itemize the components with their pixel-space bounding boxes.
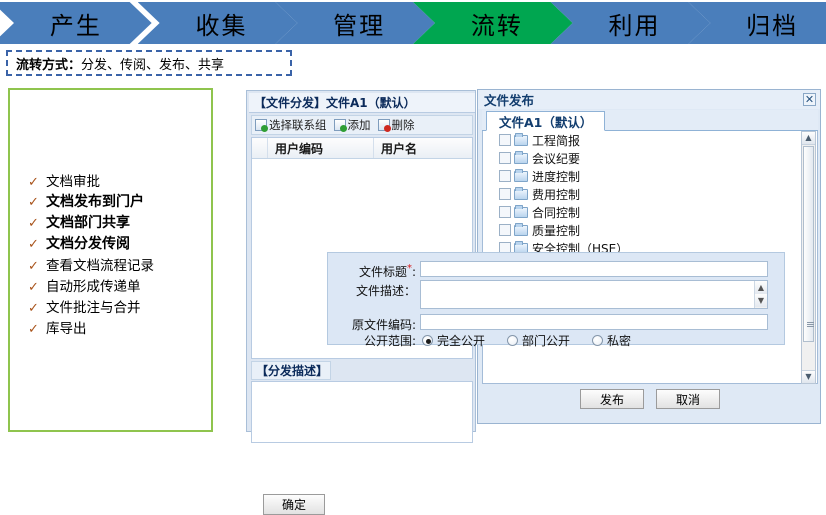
scope-radio-3[interactable]: 私密 (592, 332, 631, 349)
publish-button[interactable]: 发布 (580, 389, 644, 409)
feature-item-label: 自动形成传递单 (46, 275, 141, 295)
checkbox[interactable] (499, 224, 511, 236)
publish-title: 文件发布 (478, 90, 820, 109)
feature-item-4: ✓文档分发传阅 (24, 233, 209, 254)
scope-radio-2[interactable]: 部门公开 (507, 332, 570, 349)
scope-radio-1[interactable]: 完全公开 (422, 332, 485, 349)
check-icon: ✓ (24, 175, 46, 190)
grid-header-row: 用户编码 用户名 (252, 138, 472, 159)
file-title-label: 文件标题*: (338, 261, 416, 280)
radio-icon[interactable] (422, 335, 433, 346)
process-step-label: 收集 (195, 6, 247, 41)
file-title-label-text: 文件标题 (359, 265, 407, 279)
process-banner: 产生收集管理流转利用归档 (0, 2, 826, 44)
feature-list: ✓文档审批✓文档发布到门户✓文档部门共享✓文档分发传阅✓查看文档流程记录✓自动形… (24, 170, 209, 338)
feature-item-label: 文档分发传阅 (46, 233, 130, 253)
toolbar-button-label: 选择联系组 (269, 117, 327, 133)
process-step-label: 利用 (608, 6, 660, 41)
feature-item-label: 查看文档流程记录 (46, 254, 154, 274)
feature-item-label: 文档审批 (46, 170, 100, 190)
checkbox[interactable] (499, 188, 511, 200)
feature-item-label: 文档发布到门户 (46, 191, 144, 211)
sheet-add-icon (334, 119, 346, 131)
process-step-3: 管理 (275, 2, 435, 44)
folder-icon (514, 135, 528, 146)
check-icon: ✓ (24, 322, 46, 337)
distribution-confirm-button[interactable]: 确定 (263, 494, 325, 515)
tree-node-label: 进度控制 (532, 168, 580, 185)
tree-node-2[interactable]: 会议纪要 (483, 149, 817, 167)
radio-icon[interactable] (507, 335, 518, 346)
process-step-2: 收集 (138, 2, 298, 44)
sheet-add-icon (255, 119, 267, 131)
note-text: 分发、传阅、发布、共享 (81, 54, 224, 73)
distribution-title: 【文件分发】文件A1（默认） (249, 93, 475, 113)
feature-item-label: 库导出 (46, 317, 87, 337)
feature-item-8: ✓库导出 (24, 317, 209, 338)
check-icon: ✓ (24, 301, 46, 316)
checkbox[interactable] (499, 206, 511, 218)
feature-item-label: 文件批注与合并 (46, 296, 141, 316)
process-step-4: 流转 (413, 2, 573, 44)
process-step-5: 利用 (551, 2, 711, 44)
toolbar-button-1[interactable]: 选择联系组 (255, 117, 327, 133)
scope-radio-label: 私密 (607, 332, 631, 349)
tree-node-3[interactable]: 进度控制 (483, 167, 817, 185)
scope-row: 公开范围: 完全公开部门公开私密 (338, 332, 631, 349)
publish-form-dialog: 文件标题*: 文件描述： ▲ ▼ 原文件编码: 公开范围: 完全公开部门公开私密 (327, 252, 785, 345)
toolbar-button-label: 添加 (348, 117, 371, 133)
checkbox[interactable] (499, 152, 511, 164)
scrollbar-thumb[interactable] (803, 146, 814, 342)
folder-icon (514, 171, 528, 182)
toolbar-button-2[interactable]: 添加 (334, 117, 371, 133)
scope-radio-label: 完全公开 (437, 332, 485, 349)
tree-node-label: 费用控制 (532, 186, 580, 203)
feature-item-label: 文档部门共享 (46, 212, 130, 232)
tree-node-label: 工程简报 (532, 132, 580, 149)
file-desc-textarea[interactable] (420, 280, 768, 309)
tree-node-label: 质量控制 (532, 222, 580, 239)
folder-icon (514, 225, 528, 236)
feature-box: ✓文档审批✓文档发布到门户✓文档部门共享✓文档分发传阅✓查看文档流程记录✓自动形… (8, 88, 213, 432)
checkbox[interactable] (499, 170, 511, 182)
file-desc-row: 文件描述： ▲ ▼ (338, 280, 768, 309)
folder-icon (514, 153, 528, 164)
tree-node-label: 会议纪要 (532, 150, 580, 167)
original-code-label: 原文件编码: (338, 314, 416, 333)
scroll-up-icon[interactable]: ▲ (802, 132, 815, 145)
feature-item-3: ✓文档部门共享 (24, 212, 209, 233)
original-code-row: 原文件编码: (338, 314, 768, 333)
distribution-desc-input[interactable] (251, 381, 473, 443)
tree-node-1[interactable]: 工程简报 (483, 131, 817, 149)
close-icon[interactable]: ✕ (803, 93, 816, 106)
file-desc-label: 文件描述： (338, 280, 416, 299)
feature-item-2: ✓文档发布到门户 (24, 191, 209, 212)
tree-node-5[interactable]: 合同控制 (483, 203, 817, 221)
check-icon: ✓ (24, 216, 46, 231)
distribution-toolbar: 选择联系组添加删除 (251, 115, 473, 135)
process-step-label: 流转 (471, 6, 523, 41)
sheet-delete-icon (378, 119, 390, 131)
cancel-button[interactable]: 取消 (656, 389, 720, 409)
tree-node-6[interactable]: 质量控制 (483, 221, 817, 239)
tree-node-4[interactable]: 费用控制 (483, 185, 817, 203)
tab-file-a1[interactable]: 文件A1（默认） (486, 111, 605, 131)
file-title-input[interactable] (420, 261, 768, 277)
check-icon: ✓ (24, 280, 46, 295)
scope-label: 公开范围: (338, 332, 416, 349)
checkbox[interactable] (499, 134, 511, 146)
scrollbar-grip (807, 322, 814, 327)
desc-scroll-up-icon[interactable]: ▲ (755, 281, 767, 294)
publish-tabbar: 文件A1（默认） (482, 110, 818, 131)
distribution-desc-label: 【分发描述】 (251, 361, 331, 380)
process-step-label: 管理 (333, 6, 385, 41)
original-code-input[interactable] (420, 314, 768, 330)
file-desc-wrapper: ▲ ▼ (420, 280, 768, 309)
note-prefix: 流转方式： (16, 54, 81, 73)
folder-icon (514, 207, 528, 218)
scroll-down-icon[interactable]: ▼ (802, 370, 815, 383)
feature-item-6: ✓自动形成传递单 (24, 275, 209, 296)
process-step-label: 产生 (50, 6, 102, 41)
grid-header-user-code: 用户编码 (268, 138, 374, 158)
scope-options: 完全公开部门公开私密 (422, 332, 631, 349)
publish-button-bar: 发布取消 (482, 386, 818, 412)
flow-method-note: 流转方式：分发、传阅、发布、共享 (6, 50, 292, 76)
check-icon: ✓ (24, 195, 46, 210)
process-step-label: 归档 (746, 6, 798, 41)
tree-node-label: 合同控制 (532, 204, 580, 221)
publish-tree-scrollbar[interactable]: ▲ ▼ (801, 131, 816, 384)
feature-item-7: ✓文件批注与合并 (24, 296, 209, 317)
toolbar-button-label: 删除 (392, 117, 415, 133)
radio-icon[interactable] (592, 335, 603, 346)
desc-scrollbar[interactable]: ▲ ▼ (754, 281, 767, 308)
feature-item-1: ✓文档审批 (24, 170, 209, 191)
toolbar-button-3[interactable]: 删除 (378, 117, 415, 133)
desc-scroll-down-icon[interactable]: ▼ (755, 294, 767, 307)
check-icon: ✓ (24, 237, 46, 252)
check-icon: ✓ (24, 259, 46, 274)
file-title-row: 文件标题*: (338, 261, 768, 280)
folder-icon (514, 189, 528, 200)
grid-header-user-name: 用户名 (374, 138, 472, 158)
grid-header-select (252, 138, 268, 158)
process-step-1: 产生 (0, 2, 152, 44)
required-marker: * (407, 263, 412, 274)
scope-radio-label: 部门公开 (522, 332, 570, 349)
feature-item-5: ✓查看文档流程记录 (24, 254, 209, 275)
